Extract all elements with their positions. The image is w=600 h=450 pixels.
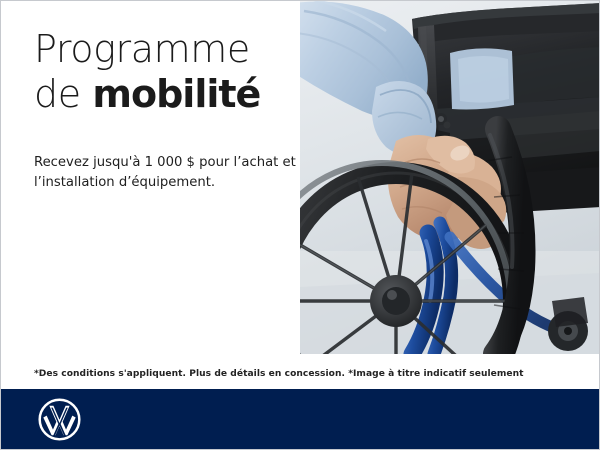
volkswagen-logo	[37, 397, 82, 442]
wheelchair-photo	[300, 1, 600, 354]
headline-line-2: de mobilité	[34, 74, 296, 115]
headline-line-2-prefix: de	[34, 72, 92, 116]
headline-emphasis: mobilité	[92, 72, 260, 116]
headline-line-1: Programme	[34, 29, 296, 70]
brand-footer	[1, 389, 599, 449]
subheading: Recevez jusqu'à 1 000 $ pour l’achat et …	[34, 153, 296, 194]
disclaimer-text: *Des conditions s'appliquent. Plus de dé…	[34, 369, 574, 379]
promotional-banner: Programme de mobilité Recevez jusqu'à 1 …	[0, 0, 600, 450]
page-title: Programme de mobilité	[34, 29, 296, 114]
